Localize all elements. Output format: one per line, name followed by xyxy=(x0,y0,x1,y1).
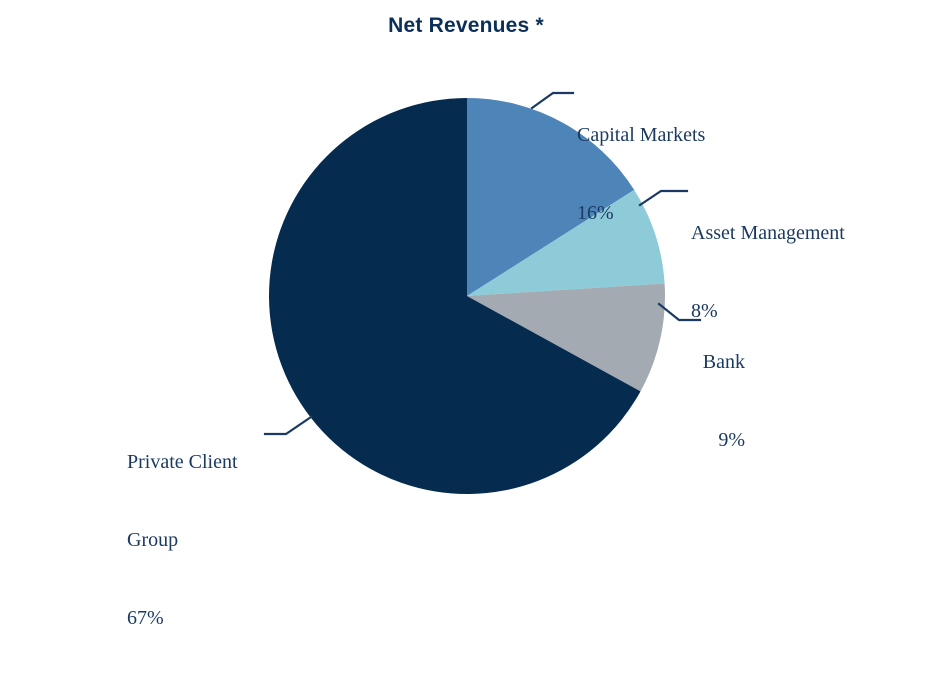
slice-label-bank: Bank 9% xyxy=(640,297,745,505)
slice-label-private-client-group-name-line2: Group xyxy=(127,527,238,553)
slice-label-asset-management-name: Asset Management xyxy=(691,220,845,246)
slice-label-private-client-group: Private Client Group 67% xyxy=(127,397,238,683)
leader-line-capital-markets xyxy=(532,93,573,108)
slice-label-bank-value: 9% xyxy=(640,427,745,453)
leader-line-private-client-group xyxy=(265,417,311,434)
slice-label-private-client-group-value: 67% xyxy=(127,605,238,631)
slice-label-bank-name: Bank xyxy=(640,349,745,375)
pie-chart: Net Revenues * Capital Markets 16% Asset… xyxy=(0,0,932,532)
slice-label-capital-markets-value: 16% xyxy=(577,200,705,226)
slice-label-private-client-group-name-line1: Private Client xyxy=(127,449,238,475)
slice-label-capital-markets-name: Capital Markets xyxy=(577,122,705,148)
slice-label-capital-markets: Capital Markets 16% xyxy=(577,70,705,278)
